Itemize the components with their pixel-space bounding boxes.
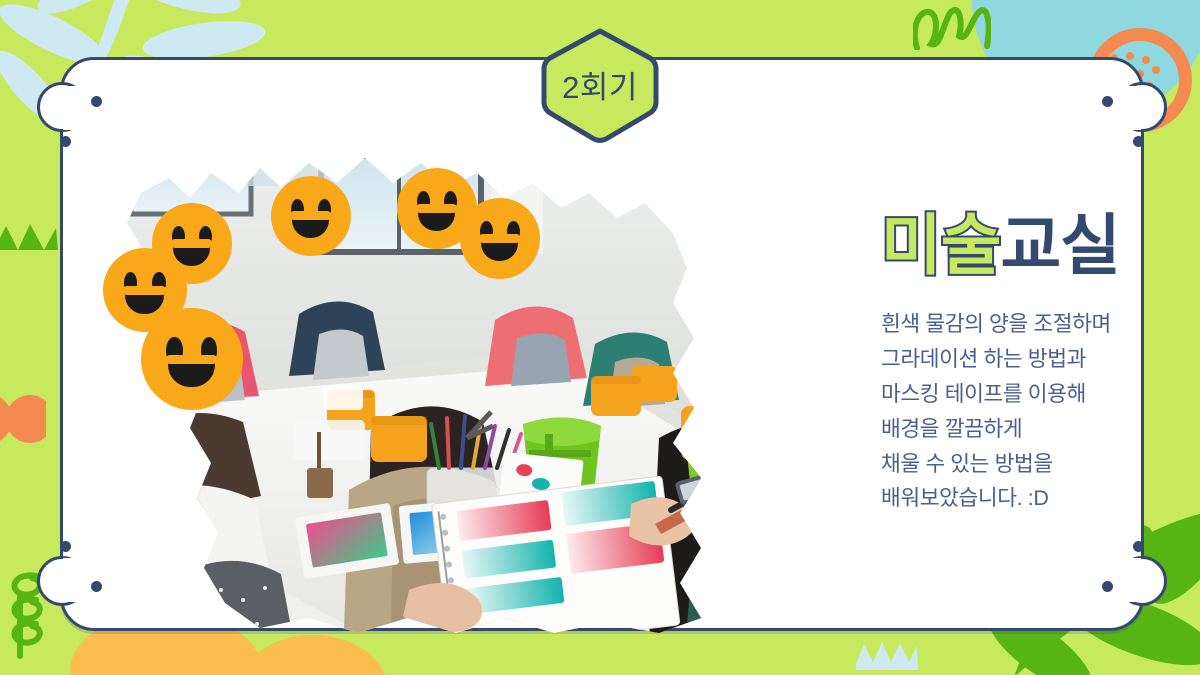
title-part-navy: 교실: [1000, 208, 1119, 282]
screw-dot: [1133, 136, 1144, 147]
description-text: 흰색 물감의 양을 조절하며 그라데이션 하는 방법과 마스킹 테이프를 이용해…: [881, 307, 1200, 516]
smiley-sticker-4: [271, 176, 352, 257]
description-line-3: 마스킹 테이프를 이용해: [881, 377, 1200, 412]
screw-dot: [1102, 581, 1113, 592]
green-squiggle-decoration: [913, 6, 991, 50]
orange-bowtie-decoration: [0, 384, 46, 454]
screw-dot: [60, 541, 71, 552]
description-line-6: 배워보았습니다. :D: [881, 481, 1200, 516]
class-photo: [71, 138, 771, 638]
title-part-green: 미술: [881, 208, 1000, 282]
description-line-2: 그라데이션 하는 방법과: [881, 342, 1200, 377]
session-badge-label: 2회기: [540, 27, 660, 144]
description-line-5: 채울 수 있는 방법을: [881, 447, 1200, 482]
screw-dot: [1102, 96, 1113, 107]
smiley-sticker-6: [460, 198, 541, 279]
screw-dot: [1133, 541, 1144, 552]
green-peaks-decoration: [0, 222, 58, 250]
description-line-4: 배경을 깔끔하게: [881, 412, 1200, 447]
text-column: 미술교실 흰색 물감의 양을 조절하며 그라데이션 하는 방법과 마스킹 테이프…: [881, 210, 1200, 516]
notch-mask: [1117, 86, 1141, 130]
session-badge: 2회기: [540, 27, 660, 144]
blue-crown-decoration: [854, 640, 920, 670]
notch-mask: [1117, 558, 1141, 602]
screw-dot: [60, 136, 71, 147]
page-title: 미술교실: [881, 210, 1200, 281]
smiley-sticker-2: [141, 308, 243, 410]
smiley-sticker-3: [152, 203, 233, 284]
slide-canvas: 미술교실 흰색 물감의 양을 조절하며 그라데이션 하는 방법과 마스킹 테이프…: [0, 0, 1200, 675]
description-line-1: 흰색 물감의 양을 조절하며: [881, 307, 1200, 342]
screw-dot: [91, 96, 102, 107]
screw-dot: [91, 581, 102, 592]
yellow-blob-decoration-2: [238, 635, 388, 675]
notch-mask: [63, 558, 87, 602]
notch-mask: [63, 86, 87, 130]
